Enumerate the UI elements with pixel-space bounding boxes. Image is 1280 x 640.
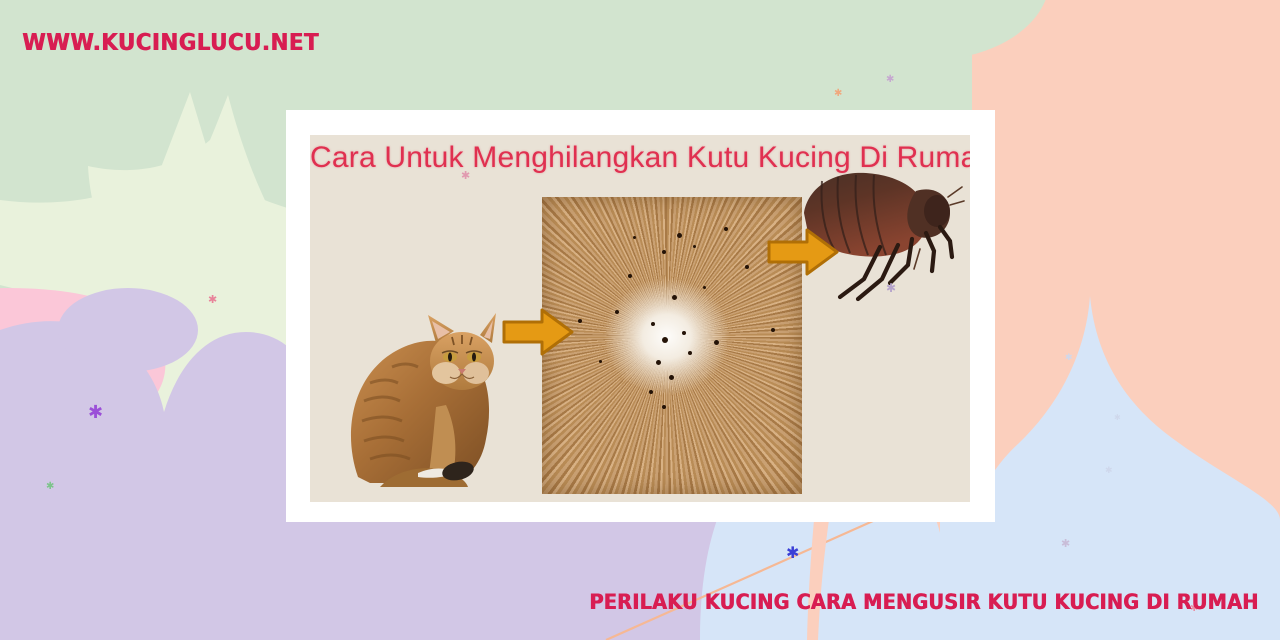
sparkle-lilac-4: ✱ bbox=[1105, 467, 1113, 476]
fur-photo bbox=[542, 197, 802, 494]
sparkle-peach-1: ✱ bbox=[834, 89, 842, 99]
bg-lavender-bump bbox=[58, 288, 198, 372]
sparkle-blue-1: ✱ bbox=[786, 545, 799, 561]
bottom-caption: PERILAKU KUCING CARA MENGUSIR KUTU KUCIN… bbox=[589, 590, 1258, 614]
sparkle-purple-1: ✱ bbox=[88, 404, 103, 422]
site-watermark: WWW.KUCINGLUCU.NET bbox=[22, 30, 319, 56]
arrow-fur-to-flea bbox=[765, 225, 841, 279]
sparkle-pink-1: ✱ bbox=[208, 294, 217, 305]
sparkle-lilac-3: ✱ bbox=[1065, 354, 1073, 363]
photo-inner-canvas: Cara Untuk Menghilangkan Kutu Kucing Di … bbox=[310, 135, 970, 502]
sparkle-lilac-2: ✱ bbox=[886, 75, 894, 85]
sparkle-lilac-6: ✱ bbox=[1061, 538, 1070, 549]
sparkle-pink-2: ✱ bbox=[461, 170, 470, 181]
sparkle-lilac-5: ✱ bbox=[1114, 414, 1121, 422]
bg-blue-base bbox=[940, 520, 1280, 640]
arrow-cat-to-fur bbox=[500, 305, 576, 359]
sparkle-green-1: ✱ bbox=[46, 482, 54, 492]
page-root: WWW.KUCINGLUCU.NET PERILAKU KUCING CARA … bbox=[0, 0, 1280, 640]
sparkle-lilac-1: ✱ bbox=[886, 282, 896, 294]
photo-card: Cara Untuk Menghilangkan Kutu Kucing Di … bbox=[286, 110, 995, 522]
